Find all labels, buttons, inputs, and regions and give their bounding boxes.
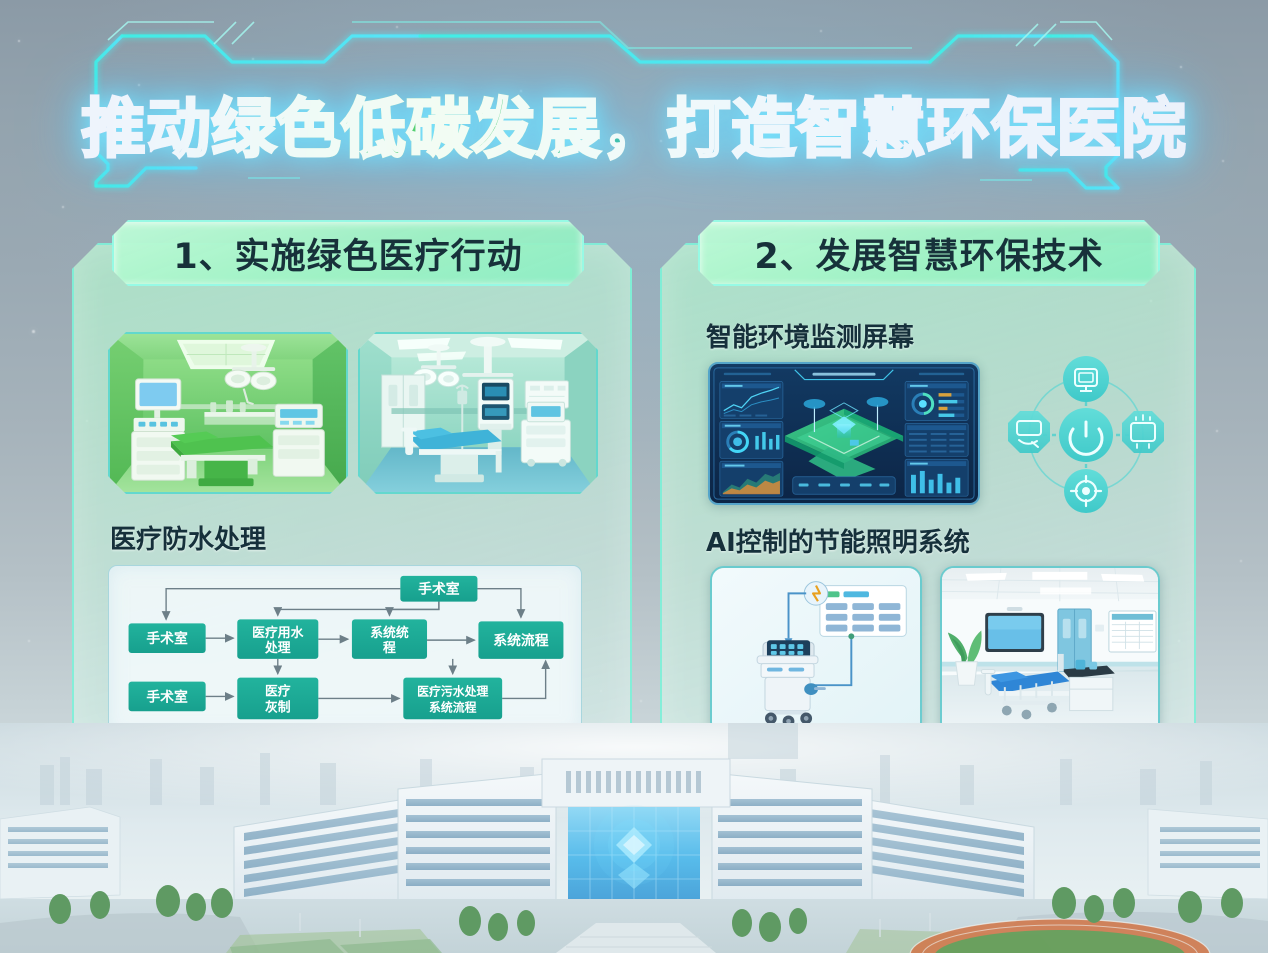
page-title-wrap: 推动绿色低碳发展，打造智慧环保医院	[0, 78, 1268, 170]
particle	[62, 206, 64, 208]
svg-text:系统统: 系统统	[370, 625, 409, 641]
flow-node-top: 手术室	[400, 576, 477, 602]
hospital-campus-render	[0, 723, 1268, 953]
section-1-heading: 1、实施绿色医疗行动	[112, 220, 584, 286]
svg-text:手术室: 手术室	[146, 688, 188, 705]
smart-ward-room-image	[940, 566, 1160, 736]
svg-text:灰制: 灰制	[265, 699, 291, 715]
particle	[32, 330, 35, 333]
particle	[1216, 430, 1218, 432]
svg-text:系统流程: 系统流程	[493, 632, 548, 649]
section-1-heading-text: 1、实施绿色医疗行动	[173, 228, 522, 279]
screen-hand-icon	[1008, 411, 1050, 453]
svg-text:医疗污水处理: 医疗污水处理	[417, 684, 488, 698]
particle	[396, 26, 398, 28]
smart-lighting-control-cart-image	[710, 566, 922, 736]
svg-text:手术室: 手术室	[418, 581, 460, 598]
operating-room-teal-image	[358, 332, 598, 494]
particle	[28, 640, 30, 642]
flow-node-water-treatment: 医疗用水 处理	[237, 619, 318, 659]
svg-text:手术室: 手术室	[146, 630, 188, 647]
center-power-icon	[1059, 408, 1113, 462]
section-1-sub-label: 医疗防水处理	[110, 519, 266, 556]
flow-node-left-1: 手术室	[129, 623, 206, 653]
flow-node-system-1: 系统统 程	[352, 619, 427, 659]
environment-monitoring-dashboard	[708, 362, 980, 505]
svg-text:医疗用水: 医疗用水	[252, 625, 303, 641]
section-2-heading: 2、发展智慧环保技术	[698, 220, 1160, 286]
flow-node-sewage-system: 医疗污水处理 系统流程	[403, 678, 502, 720]
iot-network-diagram	[998, 356, 1174, 514]
svg-text:医疗: 医疗	[265, 683, 291, 699]
medical-water-treatment-flowchart: 手术室 手术室 手术室 医疗用水 处理	[108, 565, 582, 737]
target-icon	[1064, 469, 1108, 513]
infographic-root: 推动绿色低碳发展，打造智慧环保医院 1、实施绿色医疗行动	[0, 0, 1268, 953]
particle	[18, 40, 20, 42]
page-title: 推动绿色低碳发展，打造智慧环保医院	[82, 78, 1187, 170]
particle	[252, 58, 254, 60]
server-icon	[1122, 411, 1164, 453]
section-2-heading-text: 2、发展智慧环保技术	[754, 228, 1103, 279]
section-2-sub-label-top: 智能环境监测屏幕	[706, 317, 914, 354]
flow-node-medical-ash: 医疗 灰制	[237, 678, 318, 720]
section-2-sub-label-bottom: AI控制的节能照明系统	[706, 522, 970, 559]
particle	[640, 700, 642, 702]
particle	[820, 30, 822, 32]
flow-node-system-flow: 系统流程	[478, 621, 563, 659]
operating-room-green-image	[108, 332, 348, 494]
particle	[1240, 560, 1242, 562]
flow-nodes: 手术室 手术室 手术室 医疗用水 处理	[129, 576, 564, 719]
svg-text:处理: 处理	[264, 640, 291, 656]
particle	[1180, 66, 1182, 68]
svg-text:系统流程: 系统流程	[429, 700, 477, 714]
flow-node-left-2: 手术室	[129, 682, 206, 712]
svg-text:程: 程	[383, 641, 396, 656]
monitor-icon	[1063, 356, 1109, 402]
